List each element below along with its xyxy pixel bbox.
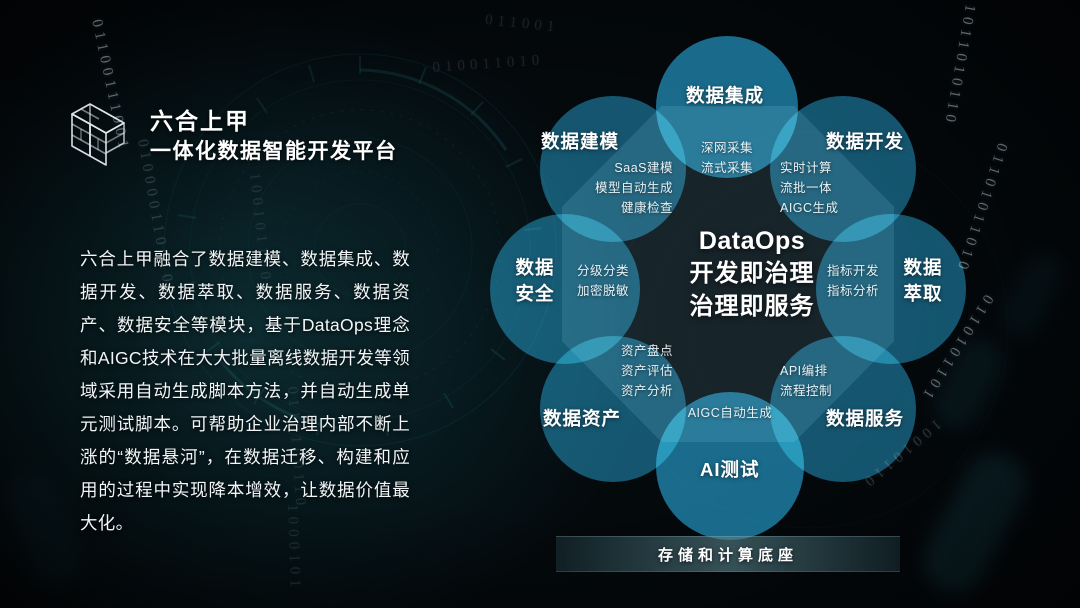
brand-name: 六合上甲 <box>150 109 398 134</box>
feature-item: AIGC生成 <box>780 198 905 218</box>
feature-item: 模型自动生成 <box>548 178 673 198</box>
node-features-data-integration: 深网采集 流式采集 <box>672 138 782 178</box>
node-features-data-service: API编排 流程控制 <box>780 361 905 401</box>
feature-item: 深网采集 <box>672 138 782 158</box>
node-label-data-development: 数据开发 <box>826 128 904 154</box>
feature-item: 加密脱敏 <box>568 281 638 301</box>
diagram-center-text: DataOps 开发即治理 治理即服务 <box>637 225 867 323</box>
node-label-data-modeling: 数据建模 <box>541 128 619 154</box>
left-info-panel: 六合上甲 一体化数据智能开发平台 六合上甲融合了数据建模、数据集成、数据开发、数… <box>0 0 470 608</box>
node-features-ai-testing: AIGC自动生成 <box>672 403 788 423</box>
foundation-label: 存储和计算底座 <box>658 544 798 565</box>
node-label-line: 数据 <box>892 255 954 281</box>
node-label-data-service: 数据服务 <box>826 405 904 431</box>
brand-block: 六合上甲 一体化数据智能开发平台 <box>62 96 398 176</box>
feature-item: 资产盘点 <box>548 341 673 361</box>
product-description: 六合上甲融合了数据建模、数据集成、数据开发、数据萃取、数据服务、数据资产、数据安… <box>80 243 410 540</box>
feature-item: AIGC自动生成 <box>672 403 788 423</box>
feature-item: 资产评估 <box>548 361 673 381</box>
feature-item: API编排 <box>780 361 905 381</box>
feature-item: 流式采集 <box>672 158 782 178</box>
node-label-data-integration: 数据集成 <box>686 82 764 108</box>
center-slogan-line2: 治理即服务 <box>637 290 867 323</box>
center-slogan-line1: 开发即治理 <box>637 257 867 290</box>
node-label-data-extraction: 数据 萃取 <box>892 255 954 307</box>
feature-item: 流批一体 <box>780 178 905 198</box>
node-label-data-security: 数据 安全 <box>504 255 566 307</box>
brand-text: 六合上甲 一体化数据智能开发平台 <box>150 109 398 162</box>
brick-wall-logo-icon <box>62 96 134 176</box>
node-label-data-asset: 数据资产 <box>543 405 621 431</box>
center-title: DataOps <box>637 225 867 257</box>
feature-item: 资产分析 <box>548 381 673 401</box>
node-features-data-security: 分级分类 加密脱敏 <box>568 261 638 301</box>
foundation-bar[interactable]: 存储和计算底座 <box>556 536 900 572</box>
slide-canvas: 01100111001 0100001100100 1001011001 011… <box>0 0 1080 608</box>
node-features-data-modeling: SaaS建模 模型自动生成 健康检查 <box>548 158 673 218</box>
node-features-data-development: 实时计算 流批一体 AIGC生成 <box>780 158 905 218</box>
feature-item: 分级分类 <box>568 261 638 281</box>
node-label-line: 萃取 <box>892 281 954 307</box>
feature-item: 实时计算 <box>780 158 905 178</box>
node-label-ai-testing: AI测试 <box>700 456 760 482</box>
feature-item: 流程控制 <box>780 381 905 401</box>
node-label-line: 数据 <box>504 255 566 281</box>
node-features-data-asset: 资产盘点 资产评估 资产分析 <box>548 341 673 401</box>
feature-item: SaaS建模 <box>548 158 673 178</box>
brand-subtitle: 一体化数据智能开发平台 <box>150 140 398 163</box>
feature-item: 健康检查 <box>548 198 673 218</box>
node-label-line: 安全 <box>504 281 566 307</box>
